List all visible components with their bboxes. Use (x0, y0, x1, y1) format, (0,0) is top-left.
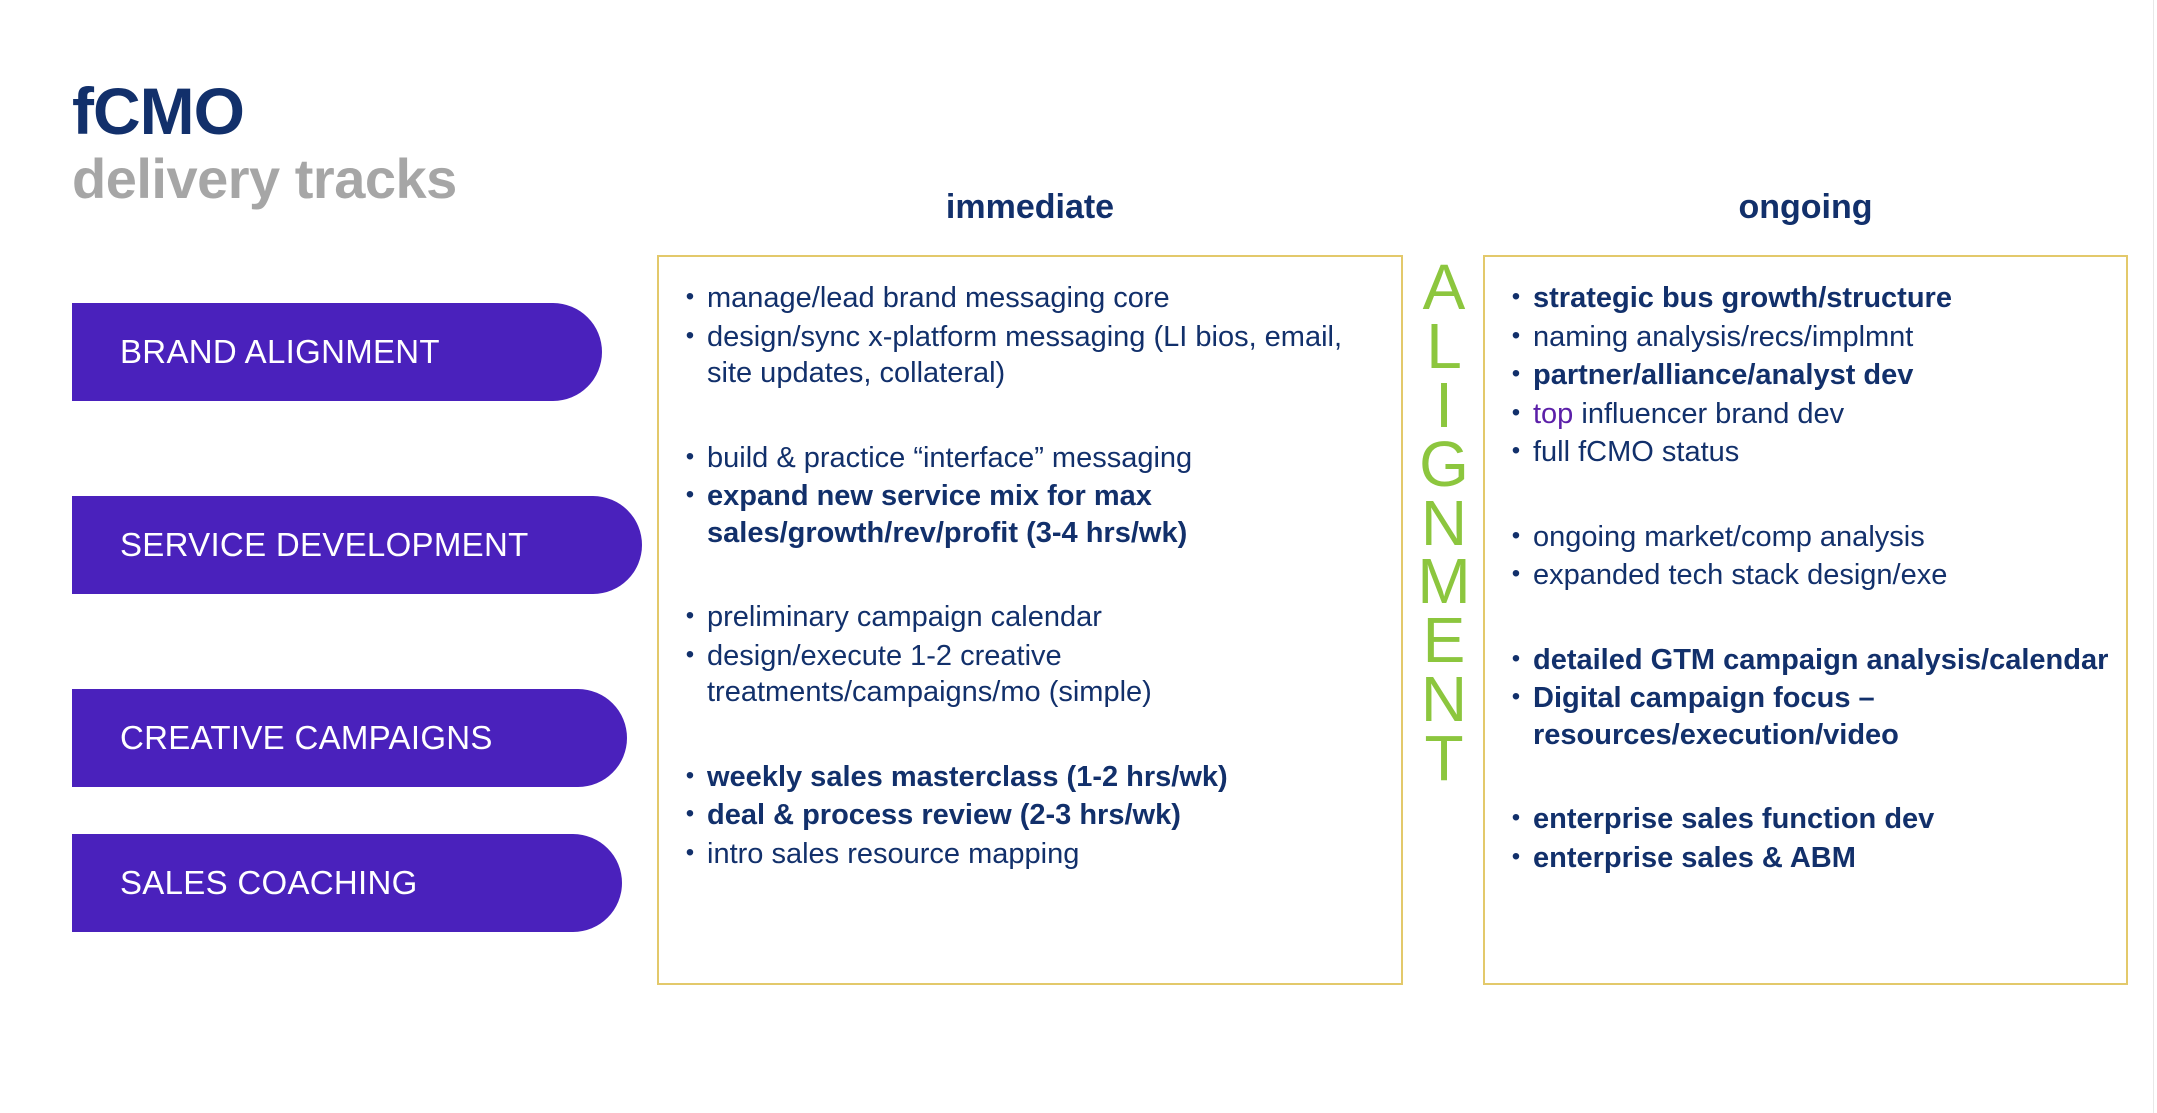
bullet-item: •naming analysis/recs/implmnt (1499, 318, 2112, 357)
bullet-dot-icon: • (1499, 357, 1533, 392)
bullet-group-ongoing-2: •ongoing market/comp analysis•expanded t… (1499, 518, 2112, 595)
bullet-item: •manage/lead brand messaging core (673, 279, 1387, 318)
bullet-group-gap (673, 552, 1387, 598)
bullet-group-immediate-2: •build & practice “interface” messaging•… (673, 439, 1387, 553)
bullet-dot-icon: • (1499, 319, 1533, 354)
bullet-text: preliminary campaign calendar (707, 599, 1387, 636)
track-pill-2[interactable]: SERVICE DEVELOPMENT (72, 496, 642, 594)
bullet-text: build & practice “interface” messaging (707, 440, 1387, 477)
track-pill-label: SALES COACHING (120, 864, 418, 902)
bullet-item: •intro sales resource mapping (673, 835, 1387, 874)
bullet-text: partner/alliance/analyst dev (1533, 357, 2112, 394)
track-pill-list: BRAND ALIGNMENTSERVICE DEVELOPMENTCREATI… (72, 255, 642, 932)
bullet-text: design/sync x-platform messaging (LI bio… (707, 319, 1387, 392)
bullet-group-immediate-3: •preliminary campaign calendar•design/ex… (673, 598, 1387, 712)
bullet-text: full fCMO status (1533, 434, 2112, 471)
bullet-item: •design/execute 1-2 creative treatments/… (673, 637, 1387, 712)
bullet-dot-icon: • (673, 836, 707, 871)
bullet-text: ongoing market/comp analysis (1533, 519, 2112, 556)
bullet-group-immediate-4: •weekly sales masterclass (1-2 hrs/wk)•d… (673, 758, 1387, 874)
ongoing-bullet-box: •strategic bus growth/structure•naming a… (1483, 255, 2128, 985)
brand-subtitle: delivery tracks (72, 150, 457, 209)
bullet-item: •top influencer brand dev (1499, 395, 2112, 434)
bullet-highlight-top: top (1533, 398, 1573, 430)
bullet-text: top influencer brand dev (1533, 396, 2112, 433)
bullet-item: •expanded tech stack design/exe (1499, 556, 2112, 595)
bullet-item: •enterprise sales function dev (1499, 800, 2112, 839)
bullet-text: Digital campaign focus – resources/execu… (1533, 680, 2112, 753)
bullet-text: enterprise sales & ABM (1533, 840, 2112, 877)
bullet-dot-icon: • (673, 280, 707, 315)
bullet-item: •Digital campaign focus – resources/exec… (1499, 679, 2112, 754)
bullet-item: •partner/alliance/analyst dev (1499, 356, 2112, 395)
bullet-text: strategic bus growth/structure (1533, 280, 2112, 317)
bullet-item: •build & practice “interface” messaging (673, 439, 1387, 478)
alignment-letter: G (1419, 435, 1469, 494)
bullet-item: •full fCMO status (1499, 433, 2112, 472)
column-header-ongoing: ongoing (1483, 188, 2128, 227)
alignment-letter: L (1426, 317, 1462, 376)
bullet-dot-icon: • (1499, 680, 1533, 715)
bullet-group-ongoing-3: •detailed GTM campaign analysis/calendar… (1499, 641, 2112, 755)
bullet-item: •deal & process review (2-3 hrs/wk) (673, 796, 1387, 835)
bullet-item: •strategic bus growth/structure (1499, 279, 2112, 318)
brand-title: fCMO (72, 78, 457, 144)
track-pill-4[interactable]: SALES COACHING (72, 834, 622, 932)
bullet-text: naming analysis/recs/implmnt (1533, 319, 2112, 356)
bullet-dot-icon: • (1499, 434, 1533, 469)
alignment-letter: E (1423, 611, 1466, 670)
alignment-letter: N (1421, 494, 1467, 553)
bullet-dot-icon: • (1499, 642, 1533, 677)
alignment-letter: A (1423, 258, 1466, 317)
bullet-dot-icon: • (1499, 280, 1533, 315)
bullet-group-ongoing-4: •enterprise sales function dev•enterpris… (1499, 800, 2112, 877)
bullet-dot-icon: • (1499, 840, 1533, 875)
bullet-item: •enterprise sales & ABM (1499, 839, 2112, 878)
bullet-dot-icon: • (673, 319, 707, 354)
track-pill-3[interactable]: CREATIVE CAMPAIGNS (72, 689, 627, 787)
bullet-group-gap (673, 393, 1387, 439)
alignment-letter: I (1435, 376, 1453, 435)
bullet-item: •detailed GTM campaign analysis/calendar (1499, 641, 2112, 680)
bullet-dot-icon: • (1499, 396, 1533, 431)
bullet-group-gap (1499, 472, 2112, 518)
bullet-text: enterprise sales function dev (1533, 801, 2112, 838)
bullet-dot-icon: • (673, 638, 707, 673)
bullet-item: •expand new service mix for max sales/gr… (673, 477, 1387, 552)
slide-edge-line (2153, 0, 2154, 1113)
bullet-text: manage/lead brand messaging core (707, 280, 1387, 317)
bullet-dot-icon: • (1499, 557, 1533, 592)
bullet-dot-icon: • (673, 478, 707, 513)
alignment-letter: T (1424, 729, 1463, 788)
track-pill-1[interactable]: BRAND ALIGNMENT (72, 303, 602, 401)
bullet-item: •design/sync x-platform messaging (LI bi… (673, 318, 1387, 393)
bullet-dot-icon: • (1499, 519, 1533, 554)
track-pill-label: SERVICE DEVELOPMENT (120, 526, 529, 564)
bullet-group-ongoing-1: •strategic bus growth/structure•naming a… (1499, 279, 2112, 472)
immediate-bullet-box: •manage/lead brand messaging core•design… (657, 255, 1403, 985)
column-header-immediate: immediate (657, 188, 1403, 227)
bullet-group-gap (673, 712, 1387, 758)
bullet-text: design/execute 1-2 creative treatments/c… (707, 638, 1387, 711)
bullet-dot-icon: • (673, 797, 707, 832)
bullet-dot-icon: • (673, 599, 707, 634)
bullet-group-gap (1499, 595, 2112, 641)
bullet-item: •ongoing market/comp analysis (1499, 518, 2112, 557)
bullet-dot-icon: • (673, 759, 707, 794)
bullet-item: •weekly sales masterclass (1-2 hrs/wk) (673, 758, 1387, 797)
alignment-letter: M (1417, 552, 1470, 611)
bullet-dot-icon: • (1499, 801, 1533, 836)
title-block: fCMO delivery tracks (72, 78, 457, 209)
alignment-letter: N (1421, 670, 1467, 729)
bullet-group-immediate-1: •manage/lead brand messaging core•design… (673, 279, 1387, 393)
bullet-text: detailed GTM campaign analysis/calendar (1533, 642, 2112, 679)
bullet-text: deal & process review (2-3 hrs/wk) (707, 797, 1387, 834)
track-pill-label: CREATIVE CAMPAIGNS (120, 719, 493, 757)
bullet-item: •preliminary campaign calendar (673, 598, 1387, 637)
bullet-text: expanded tech stack design/exe (1533, 557, 2112, 594)
bullet-text: intro sales resource mapping (707, 836, 1387, 873)
bullet-text: weekly sales masterclass (1-2 hrs/wk) (707, 759, 1387, 796)
bullet-text: expand new service mix for max sales/gro… (707, 478, 1387, 551)
alignment-vertical-word: ALIGNMENT (1412, 258, 1476, 788)
bullet-dot-icon: • (673, 440, 707, 475)
bullet-group-gap (1499, 754, 2112, 800)
track-pill-label: BRAND ALIGNMENT (120, 333, 440, 371)
